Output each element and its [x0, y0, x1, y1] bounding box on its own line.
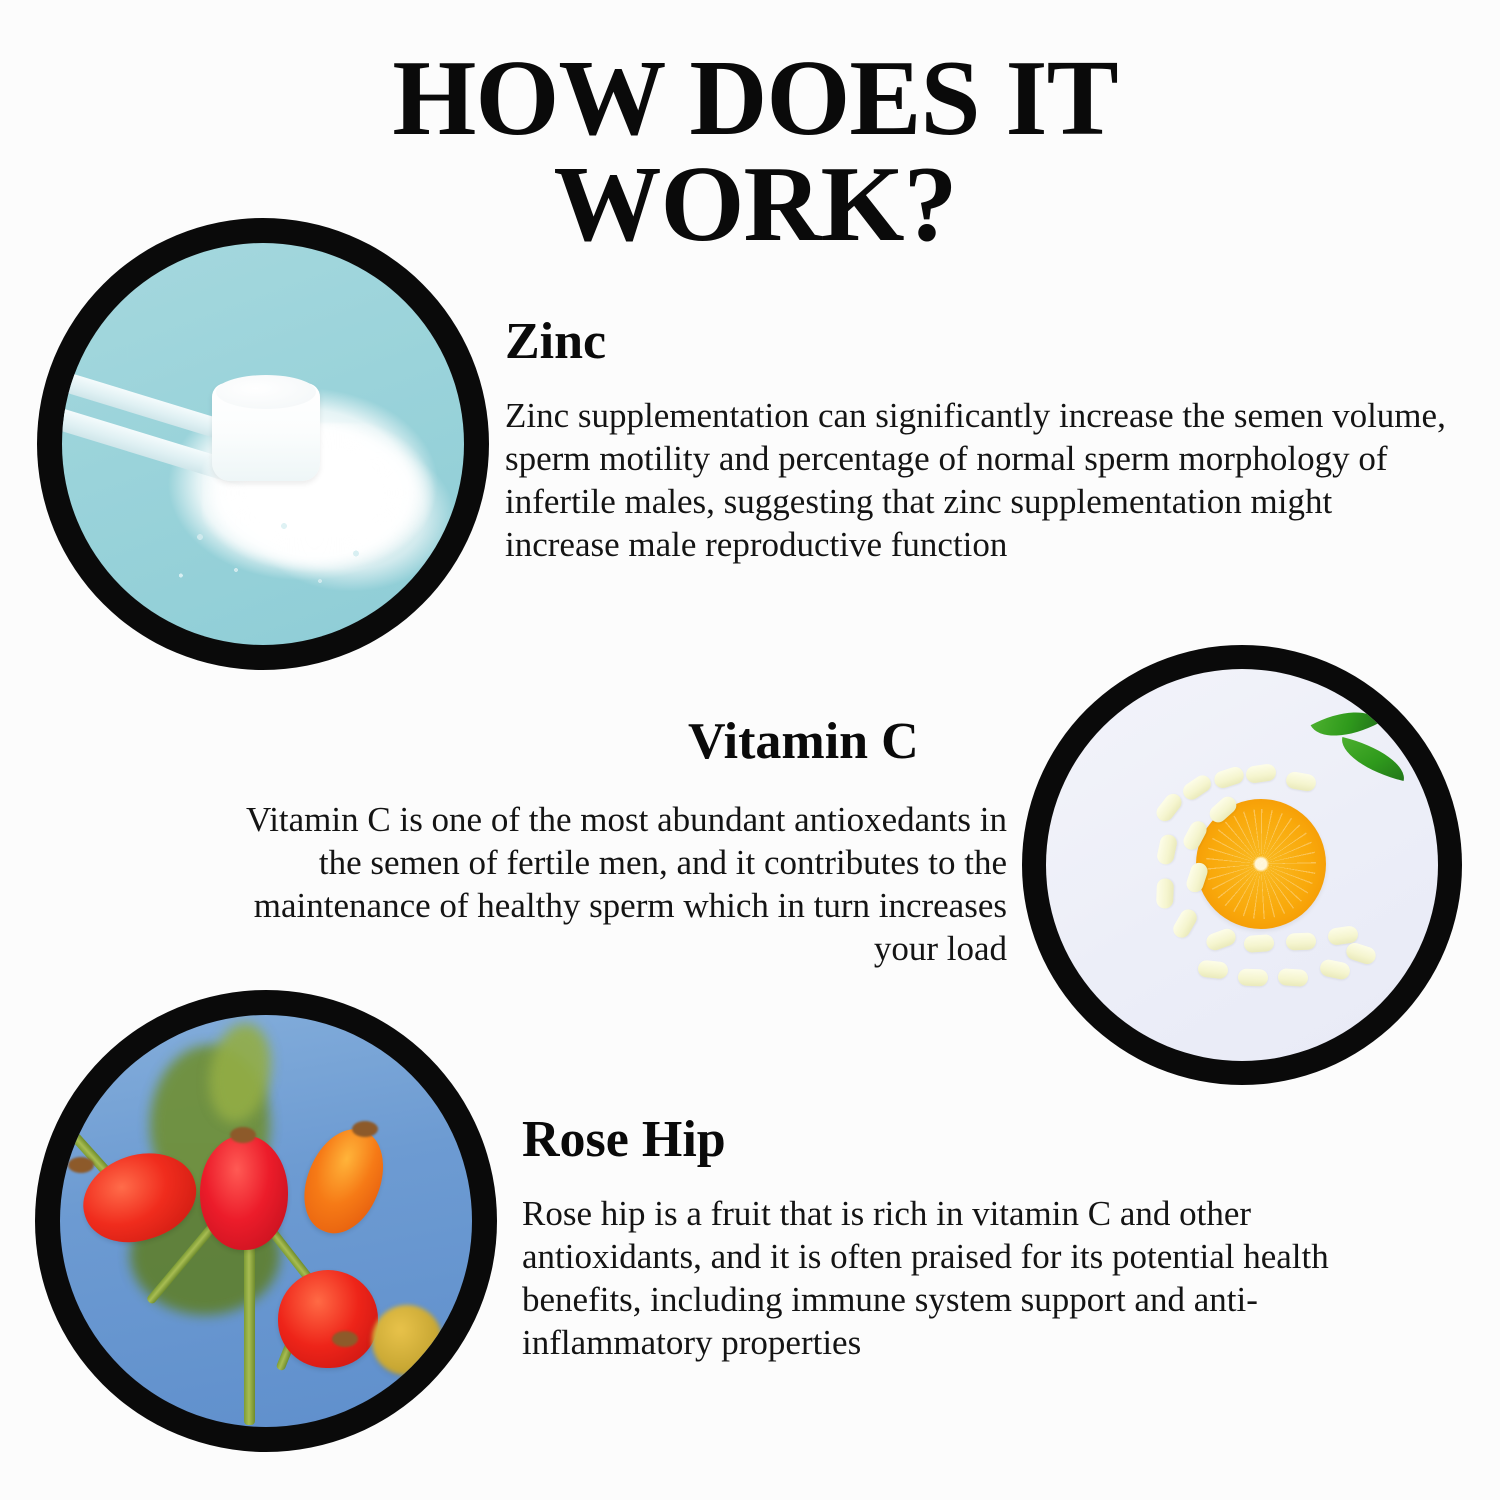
- capsule: [1170, 906, 1200, 940]
- rose-hip-heading: Rose Hip: [522, 1114, 726, 1166]
- capsule: [1153, 790, 1185, 824]
- stem: [244, 1235, 255, 1425]
- berry-calyx: [352, 1121, 378, 1137]
- rose-hip-berry: [290, 1117, 397, 1244]
- capsule: [1285, 771, 1317, 793]
- page-title-line-2: WORK?: [330, 152, 1180, 258]
- rose-hip-berry: [278, 1270, 378, 1368]
- capsule: [1286, 932, 1317, 950]
- capsule: [1212, 765, 1246, 790]
- capsule: [1180, 772, 1214, 803]
- infographic-page: HOW DOES IT WORK? Zinc Zinc supplementat…: [0, 0, 1500, 1500]
- zinc-body-text: Zinc supplementation can significantly i…: [505, 394, 1455, 566]
- rose-hip-berry-partial: [372, 1305, 442, 1375]
- page-title: HOW DOES IT WORK?: [330, 46, 1180, 258]
- capsule: [1319, 958, 1352, 981]
- zinc-heading: Zinc: [505, 316, 606, 368]
- vitamin-c-orange-capsules-photo: [1046, 669, 1438, 1061]
- powder-specks: [152, 493, 392, 603]
- berry-calyx: [230, 1127, 256, 1143]
- vitamin-c-body-text: Vitamin C is one of the most abundant an…: [225, 798, 1007, 970]
- capsule: [1245, 763, 1277, 784]
- vitamin-c-heading: Vitamin C: [688, 716, 919, 768]
- capsule: [1197, 959, 1229, 979]
- capsule: [1156, 878, 1174, 909]
- capsule: [1277, 968, 1308, 987]
- capsule: [1344, 941, 1378, 966]
- page-title-line-1: HOW DOES IT: [330, 46, 1180, 152]
- capsule: [1243, 934, 1274, 953]
- capsule: [1238, 968, 1269, 986]
- berry-calyx: [68, 1157, 94, 1173]
- rose-hip-berries-photo: [60, 1015, 472, 1427]
- zinc-powder-scoop-photo: [62, 243, 464, 645]
- berry-calyx: [332, 1331, 358, 1347]
- measuring-scoop: [212, 383, 320, 481]
- capsule: [1156, 833, 1179, 866]
- rose-hip-berry: [200, 1135, 288, 1250]
- rose-hip-body-text: Rose hip is a fruit that is rich in vita…: [522, 1192, 1372, 1364]
- capsule: [1204, 926, 1238, 952]
